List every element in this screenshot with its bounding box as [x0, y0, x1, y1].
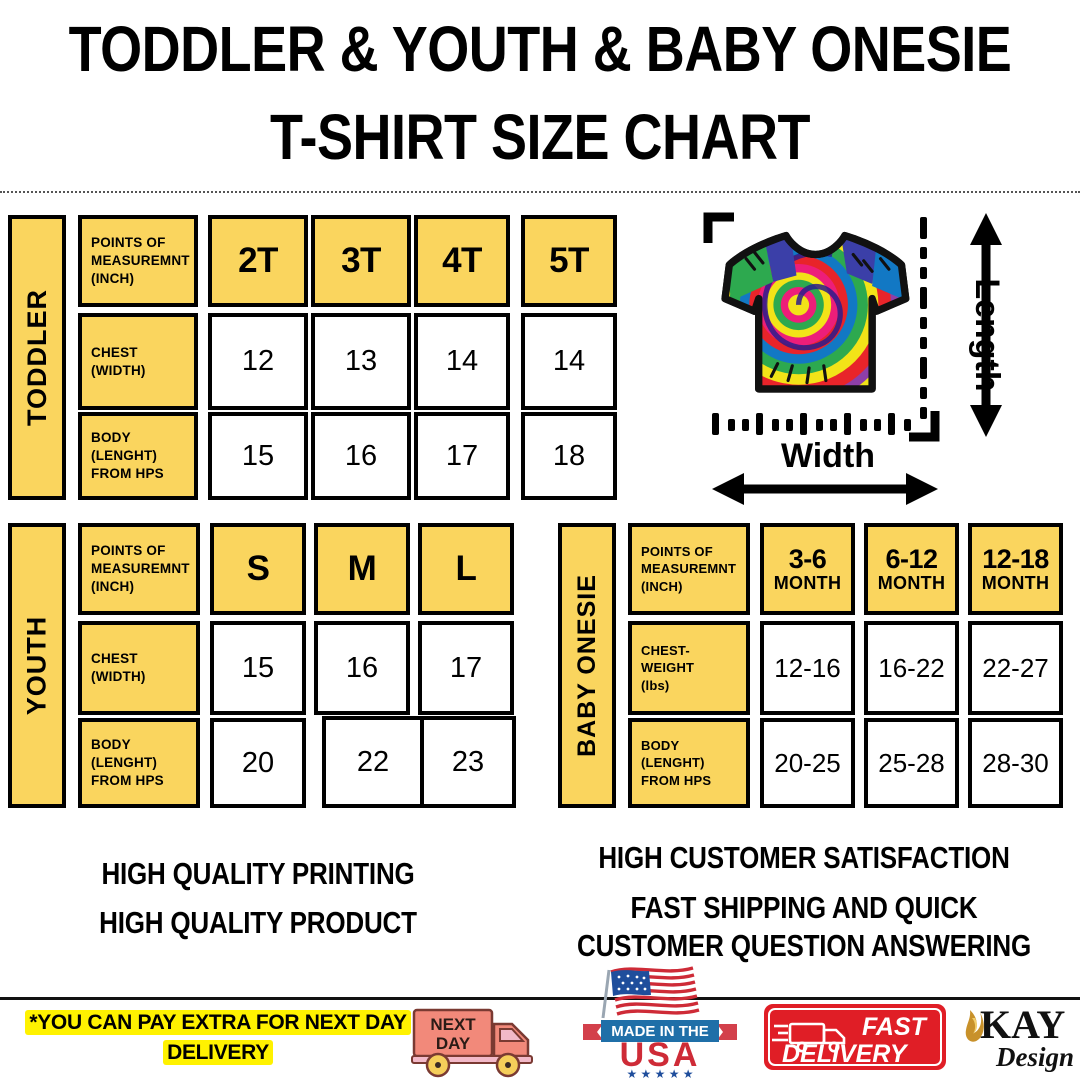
marketing-right-line-3: CUSTOMER QUESTION ANSWERING [548, 928, 1060, 964]
youth-row-body-label: BODY (LENGHT) FROM HPS [78, 718, 200, 808]
table-cell: 15 [208, 412, 308, 500]
table-cell: 23 [420, 716, 516, 808]
baby-onesie-side-label: BABY ONESIE [558, 523, 616, 808]
marketing-right-line-1: HIGH CUSTOMER SATISFACTION [548, 840, 1060, 876]
width-label: Width [781, 437, 875, 475]
baby-size-6-12-month: 6-12 MONTH [864, 523, 959, 615]
toddler-size-4t: 4T [414, 215, 510, 307]
next-day-promo-text: *YOU CAN PAY EXTRA FOR NEXT DAY DELIVERY [8, 1008, 428, 1068]
table-cell: 28-30 [968, 718, 1063, 808]
baby-size-12-18-month: 12-18 MONTH [968, 523, 1063, 615]
toddler-row-body-label: BODY (LENGHT) FROM HPS [78, 412, 198, 500]
table-cell: 17 [414, 412, 510, 500]
marketing-right-line-2: FAST SHIPPING AND QUICK [548, 890, 1060, 926]
baby-size-3-6-month: 3-6 MONTH [760, 523, 855, 615]
footer-divider [0, 997, 1080, 1000]
title-divider [0, 191, 1080, 193]
table-cell: 16 [311, 412, 411, 500]
table-cell: 15 [210, 621, 306, 715]
table-cell: 20 [210, 718, 306, 808]
title-line-1: TODDLER & YOUTH & BABY ONESIE [0, 18, 1080, 82]
table-cell: 13 [311, 313, 411, 410]
promo-line-2: DELIVERY [163, 1040, 273, 1065]
youth-row-chest-label: CHEST (WIDTH) [78, 621, 200, 715]
measurement-diagram: Length Width [690, 205, 1080, 505]
table-cell: 18 [521, 412, 617, 500]
youth-size-m: M [314, 523, 410, 615]
truck-text-line-1: NEXT [430, 1015, 476, 1034]
title-line-2: T-SHIRT SIZE CHART [0, 106, 1080, 170]
table-cell: 20-25 [760, 718, 855, 808]
youth-size-s: S [210, 523, 306, 615]
table-cell: 17 [418, 621, 514, 715]
youth-measurement-header: POINTS OF MEASUREMNT (INCH) [78, 523, 200, 615]
size-chart-page: TODDLER & YOUTH & BABY ONESIE T-SHIRT SI… [0, 0, 1080, 1080]
table-cell: 16 [314, 621, 410, 715]
table-cell: 22-27 [968, 621, 1063, 715]
baby-row-body-label: BODY (LENGHT) FROM HPS [628, 718, 750, 808]
table-cell: 22 [322, 716, 424, 808]
fast-delivery-badge: FAST DELIVERY [762, 1002, 948, 1077]
brand-sub: Design [995, 1042, 1074, 1072]
fast-delivery-line-2: DELIVERY [782, 1040, 909, 1068]
next-day-truck-badge: NEXT DAY [408, 1002, 548, 1083]
toddler-size-3t: 3T [311, 215, 411, 307]
next-day-truck-icon: NEXT DAY [408, 1002, 548, 1078]
table-cell: 12-16 [760, 621, 855, 715]
promo-line-1: *YOU CAN PAY EXTRA FOR NEXT DAY [25, 1010, 410, 1035]
youth-size-l: L [418, 523, 514, 615]
made-in-usa-icon: MADE IN THE USA ★ ★ ★ ★ ★ [575, 962, 745, 1080]
youth-side-label: YOUTH [8, 523, 66, 808]
page-title: TODDLER & YOUTH & BABY ONESIE T-SHIRT SI… [0, 18, 1080, 160]
length-label: Length [968, 278, 1006, 391]
table-cell: 14 [414, 313, 510, 410]
toddler-size-5t: 5T [521, 215, 617, 307]
toddler-measurement-header: POINTS OF MEASUREMNT (INCH) [78, 215, 198, 307]
toddler-size-2t: 2T [208, 215, 308, 307]
kay-design-logo-icon: KAY Design [958, 1000, 1078, 1076]
baby-row-chest-label: CHEST- WEIGHT (lbs) [628, 621, 750, 715]
table-cell: 16-22 [864, 621, 959, 715]
table-cell: 14 [521, 313, 617, 410]
toddler-side-label: TODDLER [8, 215, 66, 500]
baby-measurement-header: POINTS OF MEASUREMNT (INCH) [628, 523, 750, 615]
marketing-left-line-2: HIGH QUALITY PRODUCT [68, 905, 448, 941]
made-in-usa-badge: MADE IN THE USA ★ ★ ★ ★ ★ [575, 962, 745, 1085]
toddler-row-chest-label: CHEST (WIDTH) [78, 313, 198, 410]
marketing-left-line-1: HIGH QUALITY PRINTING [68, 856, 448, 892]
table-cell: 25-28 [864, 718, 959, 808]
brand-logo: KAY Design [958, 1000, 1078, 1081]
brand-name: KAY [980, 1002, 1065, 1047]
tie-dye-tshirt-icon: Length Width [690, 205, 1080, 505]
fast-delivery-line-1: FAST [862, 1013, 929, 1041]
fast-delivery-icon: FAST DELIVERY [762, 1002, 948, 1072]
table-cell: 12 [208, 313, 308, 410]
truck-text-line-2: DAY [436, 1034, 471, 1053]
usa-stars: ★ ★ ★ ★ ★ [626, 1067, 693, 1080]
